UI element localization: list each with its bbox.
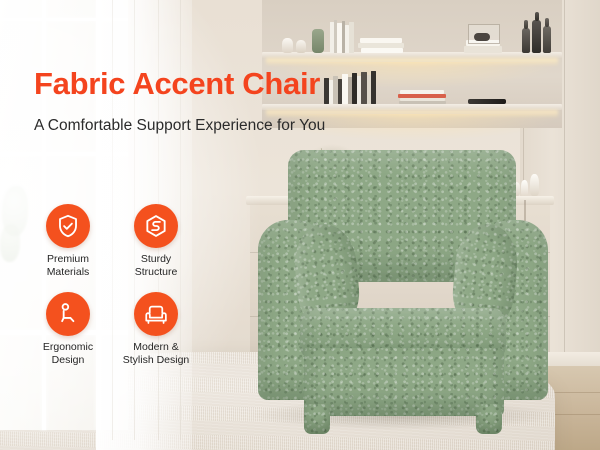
feature-row-bottom: Ergonomic Design Modern & Stylish Design [24,292,204,366]
dark-bottle [522,28,530,53]
chair-base [304,348,504,416]
feature-label: Premium Materials [47,253,90,278]
hexagon-structure-icon [143,213,169,239]
book-stack [464,46,502,53]
feature-premium-materials[interactable]: Premium Materials [24,204,112,278]
feature-row-top: Premium Materials Sturdy Structure [24,204,204,278]
feature-label: Sturdy Structure [135,253,178,278]
seated-person-icon [55,301,81,327]
product-image-fabric-accent-chair [258,150,548,420]
remote-control [468,99,506,104]
feature-ergonomic-design[interactable]: Ergonomic Design [24,292,112,366]
armchair-icon-badge [134,292,178,336]
feature-sturdy-structure[interactable]: Sturdy Structure [112,204,200,278]
book-stack [399,101,446,104]
feature-label: Modern & Stylish Design [123,341,190,366]
dark-bottle [543,26,551,53]
feature-label: Ergonomic Design [43,341,93,366]
book [371,71,376,104]
vase [282,38,293,53]
dark-bottle [532,20,541,53]
shield-check-icon-badge [46,204,90,248]
chair-left-leg [304,404,330,434]
page-title: Fabric Accent Chair [34,66,320,102]
product-banner: Fabric Accent Chair A Comfortable Suppor… [0,0,600,450]
shield-check-icon [55,213,81,239]
plant-vase [312,29,324,53]
page-subtitle: A Comfortable Support Experience for You [34,117,325,135]
armchair-icon [143,301,169,327]
feature-list: Premium Materials Sturdy Structure [24,204,204,366]
feature-modern-stylish-design[interactable]: Modern & Stylish Design [112,292,200,366]
hexagon-structure-icon-badge [134,204,178,248]
seated-person-icon-badge [46,292,90,336]
book-stack [361,48,403,53]
vase [296,40,306,53]
decor-object [474,33,490,41]
wall-corner-seam-2 [564,0,565,360]
chair-right-leg [476,404,502,434]
book [349,22,354,53]
